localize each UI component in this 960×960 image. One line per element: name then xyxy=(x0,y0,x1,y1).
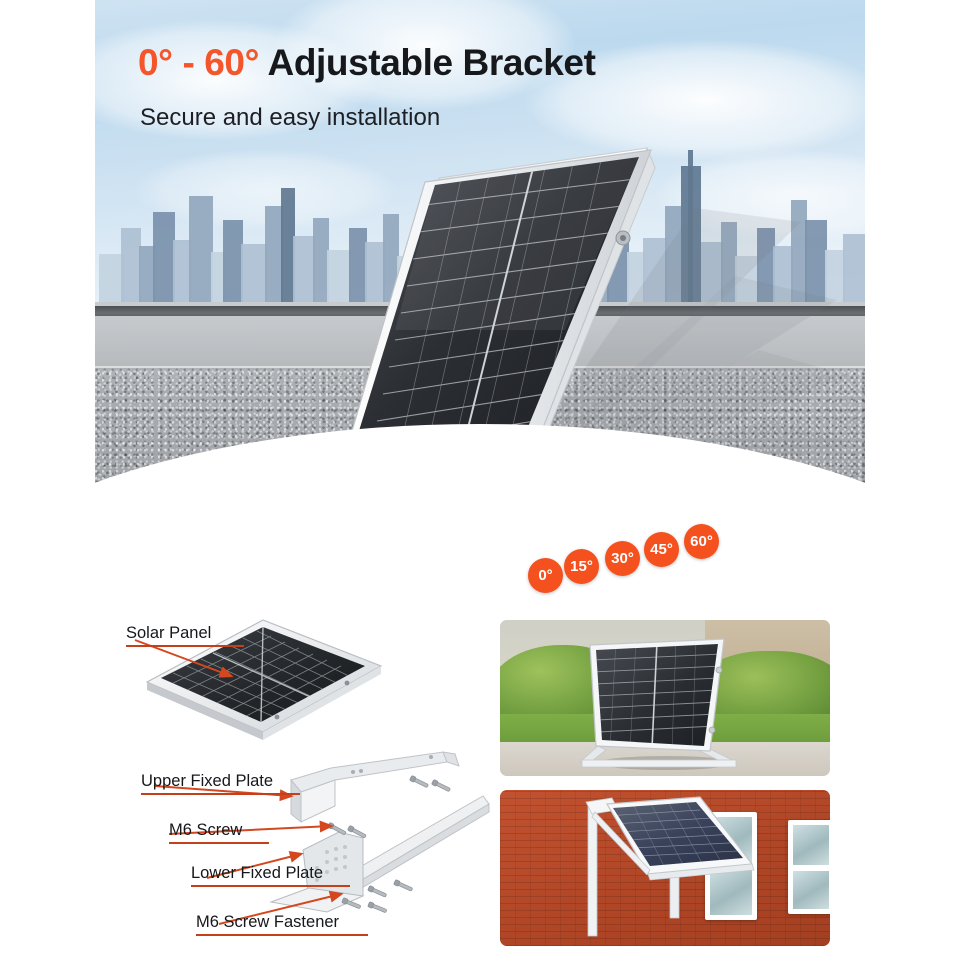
hero-image xyxy=(95,0,865,590)
callout-label-m6-screw: M6 Screw xyxy=(169,821,242,843)
callout-label-solar-panel: Solar Panel xyxy=(126,624,211,646)
angle-badge-45: 45° xyxy=(644,532,679,567)
callout-rule-m6-screw xyxy=(169,842,269,844)
page-subtitle: Secure and easy installation xyxy=(140,104,440,132)
exploded-upper-fixed-plate xyxy=(291,752,459,822)
title-accent: 0° - 60° xyxy=(138,42,259,83)
angle-badge-60: 60° xyxy=(684,524,719,559)
angle-badge-30: 30° xyxy=(605,541,640,576)
callout-rule-m6-screw-fastener xyxy=(196,934,368,936)
page-title: 0° - 60° Adjustable Bracket xyxy=(138,42,596,84)
garden-install-photo xyxy=(500,620,830,776)
callout-rule-solar-panel xyxy=(126,645,244,647)
title-rest: Adjustable Bracket xyxy=(259,42,595,83)
angle-badge-15: 15° xyxy=(564,549,599,584)
callout-label-upper-fixed-plate: Upper Fixed Plate xyxy=(141,772,273,794)
wall-install-photo xyxy=(500,790,830,946)
callout-label-m6-screw-fastener: M6 Screw Fastener xyxy=(196,913,339,935)
callout-rule-lower-fixed-plate xyxy=(191,885,350,887)
angle-badge-0: 0° xyxy=(528,558,563,593)
callout-rule-upper-fixed-plate xyxy=(141,793,300,795)
product-infographic: 0° 15° 30° 45° 60° 0° - 60° Adjustable B… xyxy=(0,0,960,960)
callout-label-lower-fixed-plate: Lower Fixed Plate xyxy=(191,864,323,886)
